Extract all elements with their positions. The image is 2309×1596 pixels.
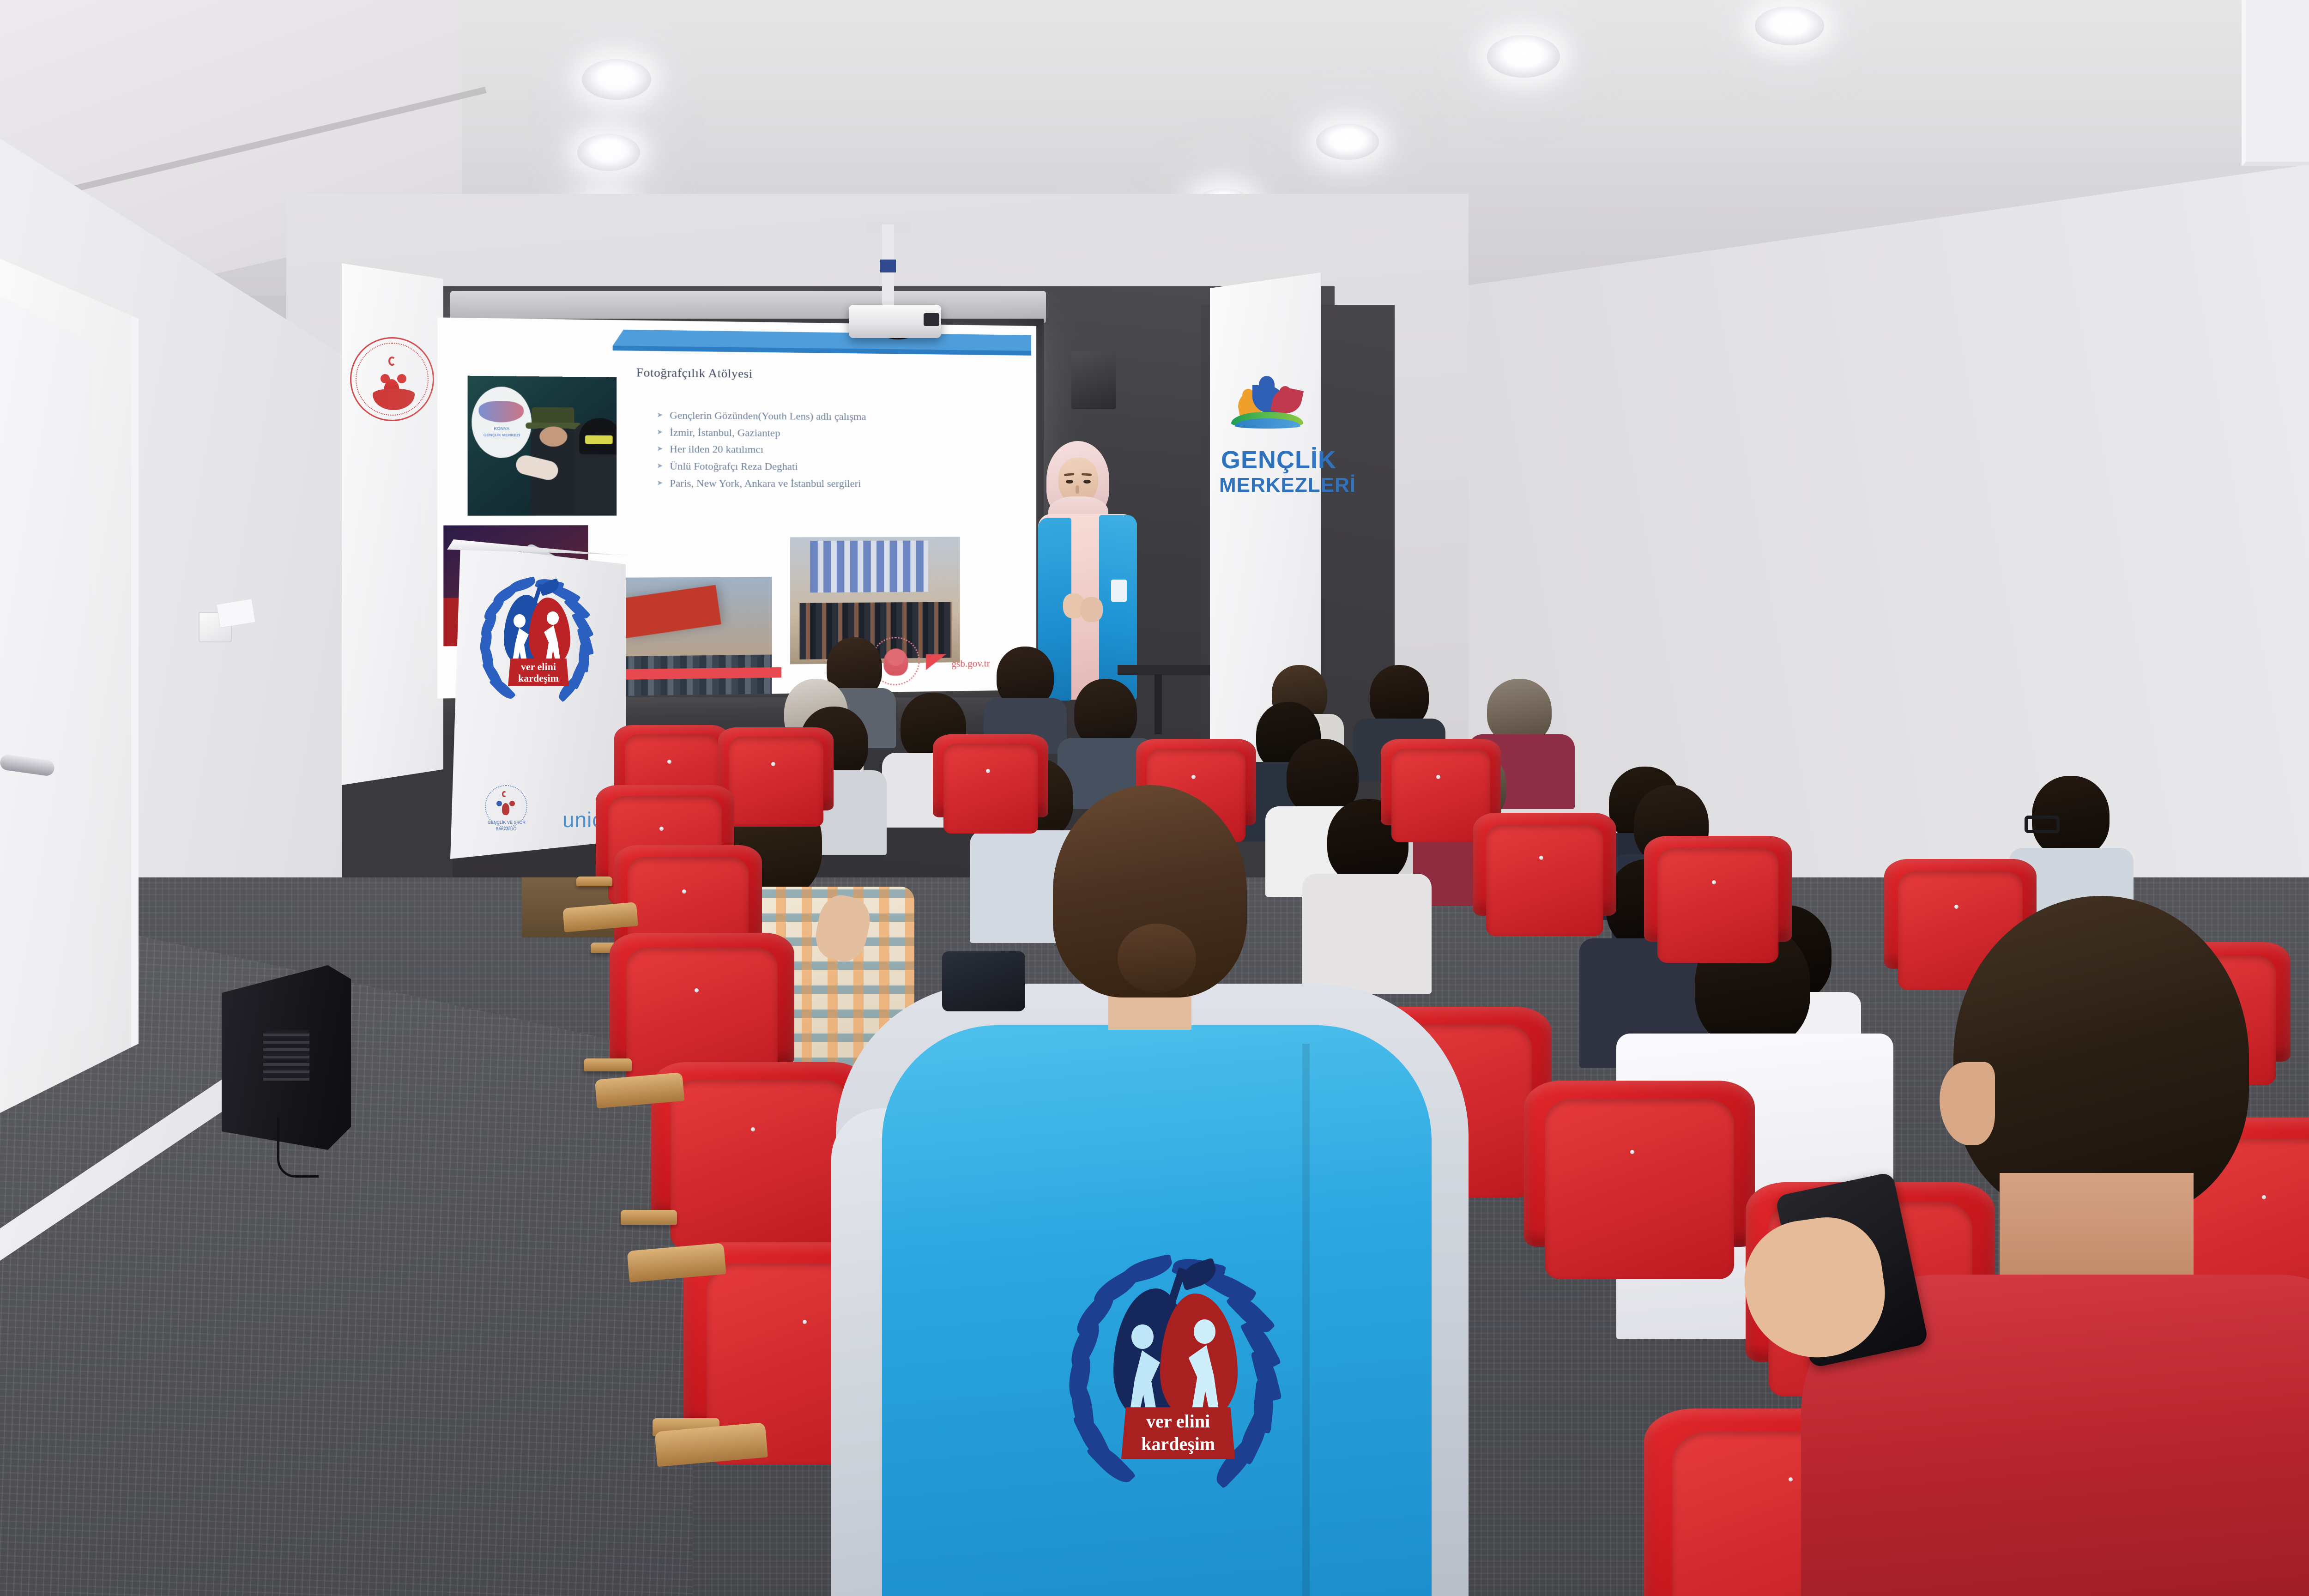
genclik-merkezleri-line1: GENÇLİK	[1221, 446, 1318, 474]
auditorium-scene: GENÇLİK MERKEZLERİ Fotoğrafçılık Atölyes…	[0, 0, 2309, 1596]
presenter-hand-right	[1081, 597, 1103, 622]
ministry-seal-icon	[350, 337, 434, 421]
ver-elini-kardesim-vest-crest-icon: ver elini kardeşim	[1044, 1247, 1302, 1505]
volunteer-hair-bun	[1118, 924, 1196, 993]
slide-thumb-logo-line1: KONYA	[478, 426, 526, 431]
ceiling-panel-right	[2242, 0, 2309, 166]
presenter-badge	[1111, 580, 1127, 602]
downlight-2	[577, 134, 640, 171]
vest-crest-ribbon-line2: kardeşim	[1121, 1433, 1235, 1455]
subwoofer-cable	[277, 1118, 319, 1178]
genclik-merkezleri-logo-icon	[1228, 369, 1306, 434]
downlight-9	[1755, 6, 1824, 45]
slide-footer-triangle-icon	[926, 654, 947, 670]
slide-photo-presentation: KONYA GENÇLİK MERKEZİ	[468, 376, 617, 516]
slide-photo-street-group	[602, 577, 772, 699]
door[interactable]	[0, 296, 92, 1081]
slide-title: Fotoğrafçılık Atölyesi	[636, 366, 753, 381]
crest-ribbon-line1: ver elini	[508, 661, 569, 673]
vest-crest-ribbon-line1: ver elini	[1121, 1410, 1235, 1432]
side-table-leg	[1154, 674, 1162, 734]
podium-ministry-small-line1: GENÇLİK VE SPOR	[477, 820, 537, 825]
projector-lens-icon	[924, 313, 939, 326]
volunteer-vest-seam	[1302, 1044, 1310, 1596]
bag-on-seat	[942, 951, 1025, 1011]
ver-elini-kardesim-crest-icon: ver elini kardeşim	[466, 573, 605, 711]
downlight-6	[1316, 124, 1379, 160]
slide-bullet: Paris, New York, Ankara ve İstanbul serg…	[657, 474, 1031, 492]
projector-bracket-tape	[880, 260, 896, 272]
vest-crest-ribbon: ver elini kardeşim	[1121, 1407, 1235, 1459]
subwoofer-control-panel	[263, 1030, 309, 1081]
crest-ribbon-line2: kardeşim	[508, 672, 569, 684]
side-table	[1118, 665, 1210, 675]
slide-bullet: Her ilden 20 katılımcı	[657, 441, 1031, 459]
seat[interactable]	[1644, 836, 1792, 984]
slide-bullet-list: Gençlerin Gözünden(Youth Lens) adlı çalı…	[637, 406, 1031, 492]
slide-thumb-logo-line2: GENÇLİK MERKEZİ	[475, 433, 529, 437]
foreground-man-with-phone	[1801, 896, 2309, 1596]
ministry-banner	[342, 263, 443, 785]
foreground-volunteer-blue-vest: ver elini kardeşim	[757, 785, 1496, 1596]
slide-bullet: Gençlerin Gözünden(Youth Lens) adlı çalı…	[657, 407, 1031, 426]
slide-bullet: Ünlü Fotoğrafçı Reza Deghati	[657, 458, 1031, 476]
genclik-merkezleri-line2: MERKEZLERİ	[1219, 474, 1320, 497]
phone-man-head	[1953, 896, 2249, 1219]
wall-speaker	[1071, 351, 1116, 409]
eyeglasses-icon	[2025, 816, 2060, 833]
phone-man-ear	[1940, 1062, 1995, 1145]
presenter-nose	[1076, 485, 1079, 494]
downlight-1	[582, 59, 651, 100]
slide-bullet: İzmir, İstanbul, Gaziantep	[657, 423, 1031, 442]
presenter-eye-right	[1083, 480, 1091, 484]
podium-ministry-small-line2: BAKANLIĞI	[477, 827, 537, 831]
seat[interactable]	[1524, 1081, 1755, 1312]
crest-ribbon: ver elini kardeşim	[508, 659, 569, 686]
presenter-eye-left	[1066, 480, 1073, 484]
downlight-7	[1487, 35, 1560, 78]
